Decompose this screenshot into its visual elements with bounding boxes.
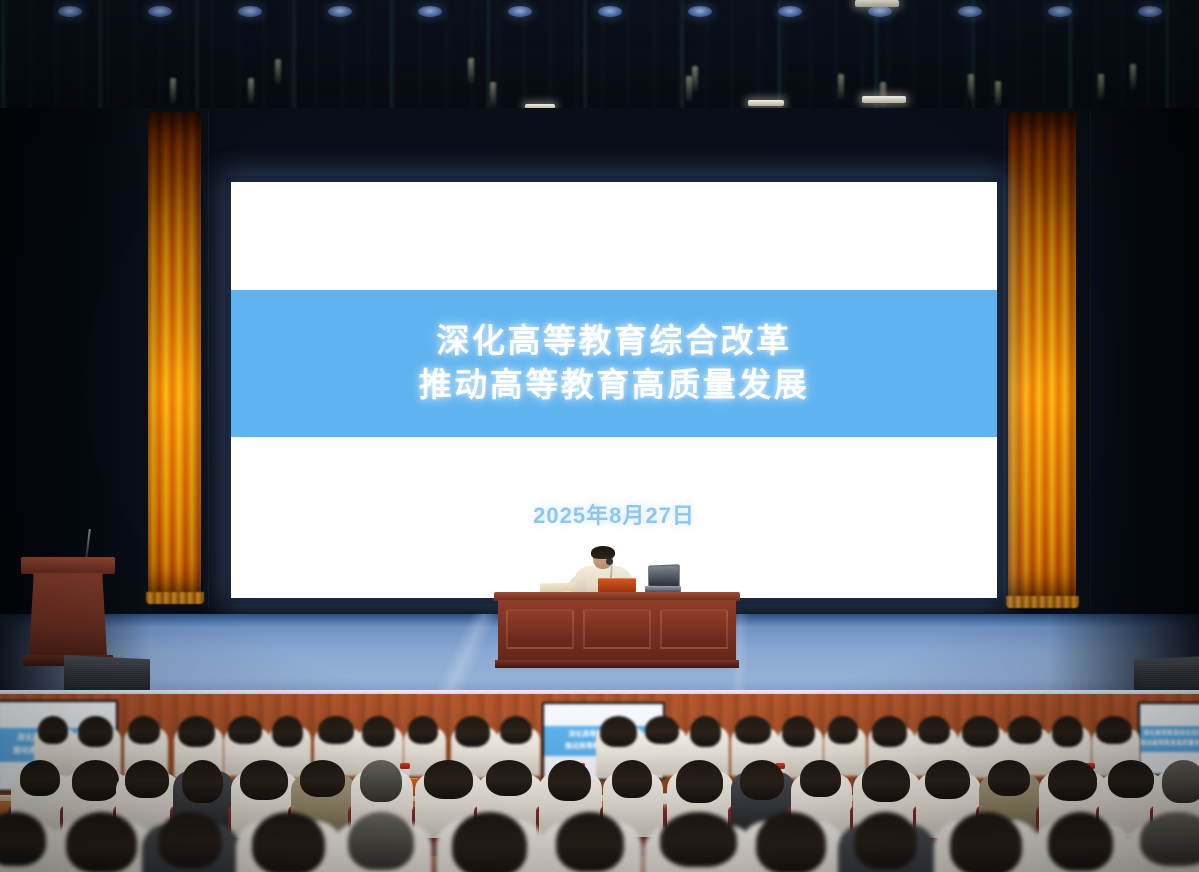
projection-screen: 深化高等教育综合改革 推动高等教育高质量发展 2025年8月27日 <box>231 182 997 598</box>
ceiling-light-icon <box>598 6 622 17</box>
audience-member-head <box>690 716 721 747</box>
audience-member-head <box>1008 716 1042 744</box>
audience-member-head <box>178 716 215 747</box>
audience-member-head <box>452 812 527 872</box>
ceiling-light-icon <box>238 6 262 17</box>
curtain-hem <box>146 592 204 604</box>
wall-seam <box>1090 110 1091 610</box>
audience-member-head <box>158 812 222 868</box>
ceiling <box>0 0 1199 118</box>
audience-member-head <box>918 716 950 744</box>
stage-curtain-left <box>148 112 201 600</box>
audience-member-head <box>500 716 532 744</box>
ceiling-light-icon <box>1048 6 1072 17</box>
audience-member-head <box>660 812 737 867</box>
audience-member-head <box>455 716 490 747</box>
audience-member-head <box>676 760 723 803</box>
ceiling-lamp-icon <box>880 82 886 108</box>
ceiling-lamp-icon <box>248 78 254 104</box>
audience-member-head <box>424 760 473 799</box>
desk-panel <box>583 609 651 649</box>
ceiling-lamp-icon <box>1098 74 1104 100</box>
slide-title-line-1: 深化高等教育综合改革 <box>437 323 792 360</box>
audience-member-head <box>735 716 771 744</box>
audience-member-head <box>740 760 784 800</box>
audience-member-head <box>66 812 137 872</box>
water-bottle-cap <box>400 763 410 769</box>
audience-member-head <box>72 760 119 801</box>
slide-date: 2025年8月27日 <box>231 498 997 530</box>
audience-member-head <box>252 812 325 872</box>
audience-member-head <box>318 716 354 744</box>
ceiling-light-icon <box>1138 6 1162 17</box>
ceiling-lamp-icon <box>968 74 974 100</box>
ceiling-light-icon <box>58 6 82 17</box>
audience-member-head <box>962 716 999 747</box>
ceiling-light-icon <box>418 6 442 17</box>
ceiling-lamp-icon <box>275 59 281 85</box>
laptop-screen <box>648 564 680 587</box>
podium-body <box>29 573 107 657</box>
audience-member-head <box>872 716 907 747</box>
audience-member-head <box>38 716 68 744</box>
curtain-hem <box>1006 596 1079 608</box>
audience-member-head <box>800 760 841 797</box>
desk-microphone-head-icon <box>606 558 613 565</box>
speaker-grill <box>1139 664 1199 688</box>
presenter-hair <box>591 546 615 559</box>
audience-member-head <box>1048 812 1113 871</box>
audience-member-head <box>1096 716 1132 744</box>
podium <box>25 557 111 667</box>
ceiling-light-rig <box>748 100 784 106</box>
curtain-shading <box>148 112 201 600</box>
ceiling-light-icon <box>688 6 712 17</box>
wall-seam <box>208 110 209 610</box>
audience-member-head <box>548 760 591 801</box>
audience-member-head <box>1052 716 1083 747</box>
audience-member-head <box>348 812 414 870</box>
audience-member-head <box>240 760 288 800</box>
ceiling-light-icon <box>868 6 892 17</box>
slide-title-line-2: 推动高等教育高质量发展 <box>419 367 810 404</box>
ceiling-light-icon <box>148 6 172 17</box>
auditorium-scene: 深化高等教育综合改革 推动高等教育高质量发展 2025年8月27日 <box>0 0 1199 872</box>
audience-member-head <box>782 716 815 747</box>
audience-member-head <box>925 760 970 799</box>
desk-base <box>495 660 739 668</box>
audience-member-head <box>1048 760 1097 801</box>
ceiling-light-icon <box>958 6 982 17</box>
audience-member-head <box>862 760 910 802</box>
slide-title-group: 深化高等教育综合改革 推动高等教育高质量发展 <box>231 290 997 437</box>
audience-member-head <box>828 716 858 744</box>
podium-top <box>21 557 115 574</box>
audience-member-head <box>228 716 262 744</box>
audience-member-head <box>78 716 113 747</box>
audience-member-head <box>756 812 826 872</box>
ceiling-lamp-icon <box>468 58 474 84</box>
ceiling-lamp-icon <box>838 74 844 100</box>
ceiling-glow <box>0 0 1199 118</box>
audience-member-head <box>556 812 624 872</box>
stage-curtain-right <box>1008 112 1076 604</box>
audience-member-head <box>854 812 917 869</box>
curtain-shading <box>1008 112 1076 604</box>
ceiling-lamp-icon <box>692 66 698 92</box>
desk-panel <box>506 609 574 649</box>
ceiling-lamp-icon <box>995 81 1001 107</box>
audience-member-head <box>1162 760 1199 803</box>
audience-member-head <box>988 760 1030 796</box>
audience-member-head <box>1140 812 1199 866</box>
stage-wall-right-dark <box>1068 108 1199 620</box>
wall-seam <box>1004 110 1005 610</box>
audience-member-head <box>600 716 637 747</box>
ceiling-lamp-icon <box>170 78 176 104</box>
audience-member-head <box>486 760 532 796</box>
desk-panel <box>660 609 728 649</box>
audience-member-head <box>360 760 402 802</box>
audience-member-head <box>362 716 395 747</box>
audience-member-head <box>20 760 60 796</box>
audience-member-head <box>612 760 652 798</box>
audience-member-head <box>645 716 679 744</box>
monitor-title-line-1: 深化高等教育综合改革 <box>1140 728 1199 737</box>
laptop <box>645 565 681 593</box>
desk-nameplate <box>598 578 636 592</box>
ceiling-lamp-icon <box>490 82 496 108</box>
ceiling-light-icon <box>328 6 352 17</box>
audience-member-head <box>128 716 160 744</box>
audience-member-head <box>182 760 223 803</box>
audience-member-head <box>950 812 1022 872</box>
audience-member-head <box>1108 760 1154 798</box>
ceiling-lamp-icon <box>1130 64 1136 90</box>
stage-wall-left-dark <box>0 108 152 620</box>
ceiling-light-icon <box>778 6 802 17</box>
audience-member-head <box>125 760 169 798</box>
audience-member-head <box>300 760 345 797</box>
speaker-grill <box>69 664 145 688</box>
presenter-desk <box>498 592 736 670</box>
ceiling-light-rig <box>862 96 906 103</box>
monitor-title-line-2: 推动高等教育高质量发展 <box>1140 738 1199 747</box>
ceiling-light-icon <box>508 6 532 17</box>
desk-front <box>498 600 736 662</box>
ceiling-light-rig <box>855 0 899 7</box>
audience-member-head <box>408 716 438 744</box>
audience-member-head <box>272 716 303 747</box>
